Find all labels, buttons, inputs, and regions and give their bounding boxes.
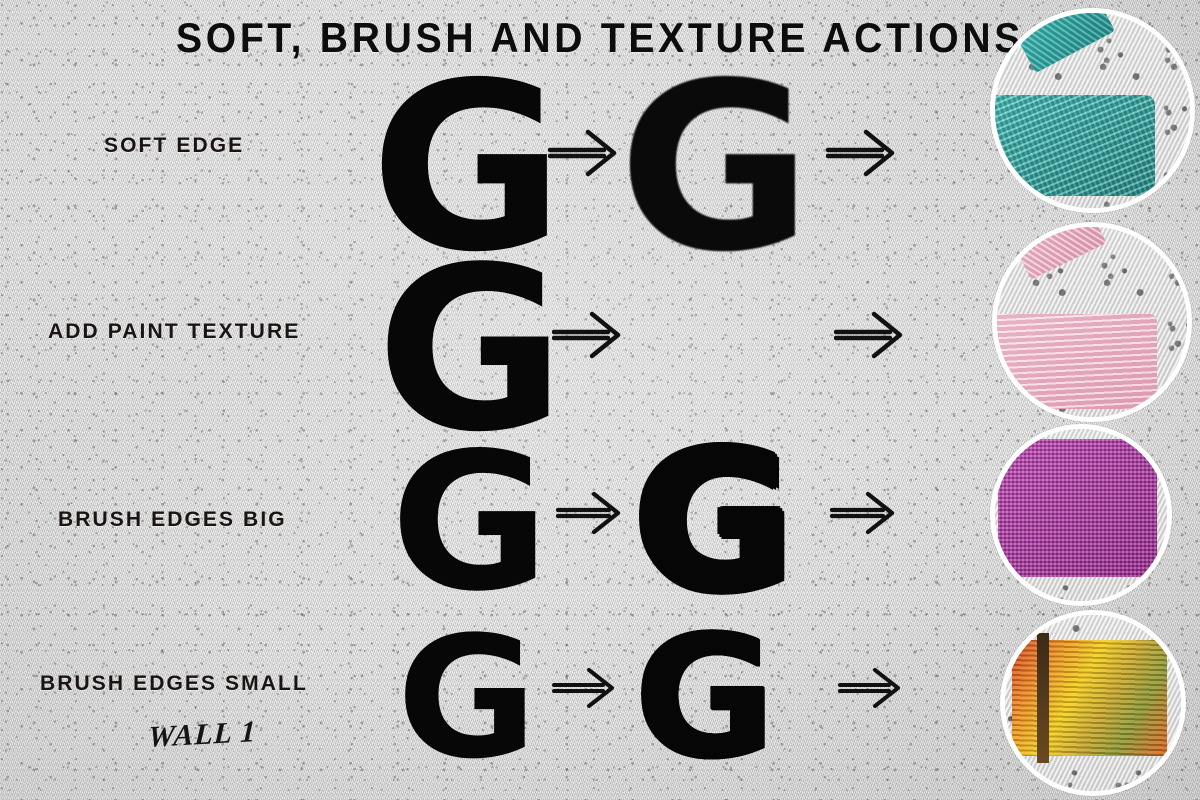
fire-detail-inset	[1000, 610, 1186, 796]
row3-arrow-2	[830, 488, 902, 536]
row1-arrow-1	[548, 126, 624, 178]
row4-original-glyph: G	[398, 614, 536, 782]
row-label-brush-edges-small: BRUSH EDGES SMALL	[40, 672, 308, 696]
magenta-detail-inset	[990, 424, 1172, 606]
row4-arrow-2	[838, 664, 908, 710]
row2-arrow-1	[552, 308, 628, 360]
poster-canvas: SOFT, BRUSH AND TEXTURE ACTIONS SOFT EDG…	[0, 0, 1200, 800]
teal-detail-inset	[990, 8, 1195, 213]
row-label-brush-edges-big: BRUSH EDGES BIG	[58, 508, 287, 532]
row4-arrow-1	[552, 664, 622, 710]
wall-signature: WALL 1	[147, 715, 257, 755]
row4-brush-edges-small-glyph: G	[636, 614, 774, 782]
row2-arrow-2	[834, 308, 910, 360]
row-label-soft-edge: SOFT EDGE	[104, 134, 244, 158]
pink-detail-inset	[992, 222, 1192, 422]
row3-arrow-1	[556, 488, 628, 536]
row3-brush-edges-big-glyph: G	[636, 428, 792, 618]
row1-arrow-2	[826, 126, 902, 178]
row3-original-glyph: G	[392, 428, 548, 618]
row-label-add-paint-texture: ADD PAINT TEXTURE	[48, 320, 300, 344]
